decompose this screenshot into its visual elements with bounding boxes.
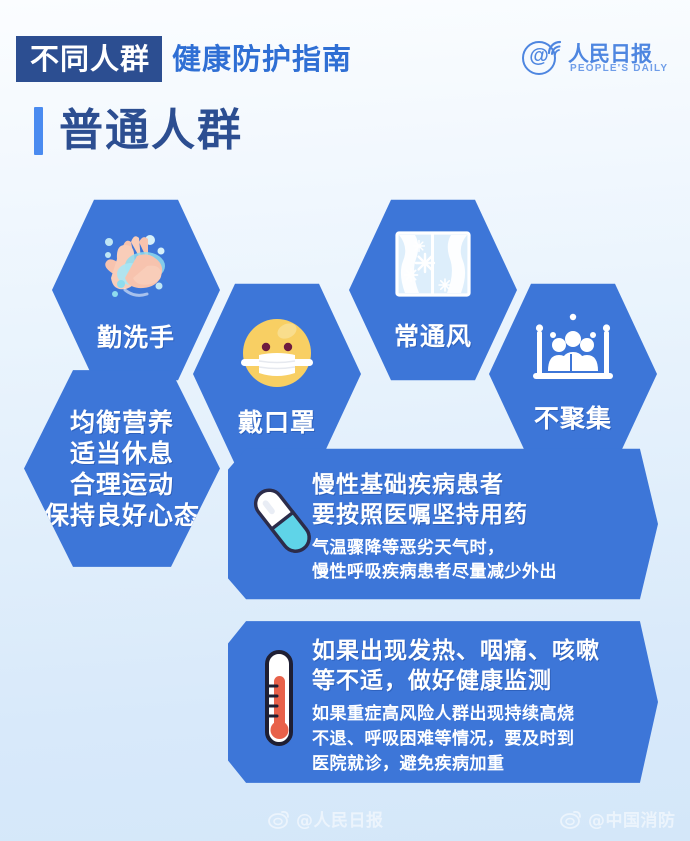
infographic-poster: 不同人群 健康防护指南 @ 人民日报 PEOPLE'S DAILY 普通人群: [0, 0, 690, 841]
banner-fever-body-line-1: 如果重症高风险人群出现持续高烧: [312, 702, 575, 727]
hex-card-ventilate[interactable]: 常通风: [349, 196, 517, 384]
capsule-pill-icon: [246, 482, 318, 560]
weibo-icon: [560, 809, 582, 829]
peoples-daily-logo: @ 人民日报 PEOPLE'S DAILY: [522, 38, 674, 82]
header-tag-label: 不同人群: [30, 36, 150, 82]
wifi-signal-icon: [546, 37, 568, 59]
masked-face-icon: [233, 309, 321, 397]
banner-medication-title-line-1: 慢性基础疾病患者: [312, 470, 528, 500]
watermark-handle-right: @中国消防: [588, 806, 676, 831]
header-subtitle: 健康防护指南: [172, 36, 352, 82]
banner-fever-body-line-3: 医院就诊，避免疾病加重: [312, 752, 575, 777]
hex-card-wash-hands[interactable]: 勤洗手: [52, 196, 220, 384]
section-title: 普通人群: [34, 102, 243, 160]
banner-fever-body: 如果重症高风险人群出现持续高烧 不退、呼吸困难等情况，要及时到 医院就诊，避免疾…: [312, 702, 575, 777]
hex-lifestyle-line-2: 适当休息: [70, 438, 174, 469]
hex-label-wash-hands: 勤洗手: [97, 318, 175, 354]
thermometer-icon: [250, 648, 308, 748]
hex-lifestyle-line-3: 合理运动: [70, 469, 174, 500]
no-crowd-icon: [525, 313, 621, 395]
poster-header: 不同人群 健康防护指南 @ 人民日报 PEOPLE'S DAILY: [0, 36, 690, 84]
watermark-china-fire: @中国消防: [560, 806, 676, 831]
hex-label-no-gathering: 不聚集: [534, 399, 612, 435]
open-window-icon: [387, 227, 479, 311]
hex-card-lifestyle[interactable]: 均衡营养 适当休息 合理运动 保持良好心态: [24, 366, 220, 571]
section-title-text: 普通人群: [59, 107, 243, 155]
hex-label-ventilate: 常通风: [394, 317, 472, 353]
banner-fever-title: 如果出现发热、咽痛、咳嗽 等不适，做好健康监测: [312, 636, 600, 696]
banner-medication-title: 慢性基础疾病患者 要按照医嘱坚持用药: [312, 470, 528, 530]
banner-medication-body: 气温骤降等恶劣天气时， 慢性呼吸疾病患者尽量减少外出: [312, 536, 557, 584]
banner-fever-title-line-1: 如果出现发热、咽痛、咳嗽: [312, 636, 600, 666]
logo-english-name: PEOPLE'S DAILY: [570, 63, 668, 74]
banner-medication-body-line-1: 气温骤降等恶劣天气时，: [312, 536, 557, 560]
title-accent-bar: [34, 107, 43, 155]
banner-fever-body-line-2: 不退、呼吸困难等情况，要及时到: [312, 727, 575, 752]
watermark-peoples-daily: @人民日报: [268, 806, 384, 831]
hex-lifestyle-line-4: 保持良好心态: [44, 500, 200, 531]
banner-fever-title-line-2: 等不适，做好健康监测: [312, 666, 600, 696]
header-tag-box: 不同人群: [16, 36, 162, 82]
weibo-icon: [268, 809, 290, 829]
hex-lifestyle-line-1: 均衡营养: [70, 407, 174, 438]
hex-card-wear-mask[interactable]: 戴口罩: [193, 280, 361, 468]
banner-medication-body-line-2: 慢性呼吸疾病患者尽量减少外出: [312, 560, 557, 584]
watermark-handle-left: @人民日报: [296, 806, 384, 831]
hex-label-wear-mask: 戴口罩: [238, 403, 316, 439]
hex-card-no-gathering[interactable]: 不聚集: [489, 280, 657, 468]
washing-hands-icon: [87, 226, 185, 312]
banner-medication-title-line-2: 要按照医嘱坚持用药: [312, 500, 528, 530]
